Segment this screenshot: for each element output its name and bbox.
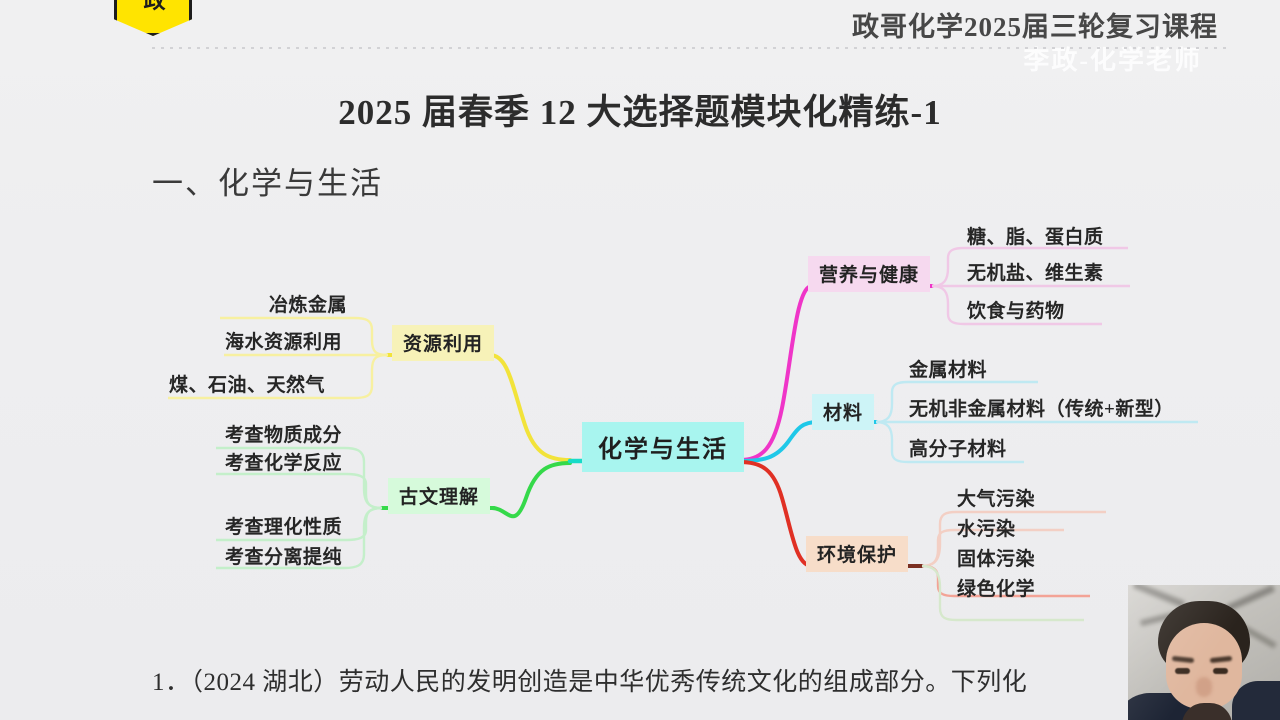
connector-classical-spine xyxy=(492,463,570,516)
mindmap-node-classical-text[interactable]: 古文理解 xyxy=(388,478,490,514)
mindmap-leaf-materials-2[interactable]: 无机非金属材料（传统+新型） xyxy=(902,392,1181,425)
mindmap-leaf-resource-3[interactable]: 煤、石油、天然气 xyxy=(162,368,332,401)
connector-environment-spine xyxy=(740,462,812,566)
mindmap-leaf-resource-1[interactable]: 冶炼金属 xyxy=(262,288,354,321)
mindmap-leaf-materials-1[interactable]: 金属材料 xyxy=(902,353,994,386)
mindmap-leaf-classical-2[interactable]: 考查化学反应 xyxy=(218,446,349,479)
mindmap-leaf-resource-2[interactable]: 海水资源利用 xyxy=(218,325,349,358)
watermark-text: 李政-化学老师 xyxy=(1023,40,1202,77)
connector-resource-spine xyxy=(490,355,570,460)
section-heading: 一、化学与生活 xyxy=(152,158,383,203)
mindmap-node-nutrition-health[interactable]: 营养与健康 xyxy=(808,256,930,292)
mindmap-leaf-environment-3[interactable]: 固体污染 xyxy=(950,542,1042,575)
mindmap-leaf-nutrition-2[interactable]: 无机盐、维生素 xyxy=(960,256,1111,289)
mindmap-diagram: 化学与生活 资源利用 冶炼金属 海水资源利用 煤、石油、天然气 古文理解 考查物… xyxy=(140,210,1220,640)
logo-mark-text: 政 xyxy=(131,0,177,19)
mindmap-leaf-materials-3[interactable]: 高分子材料 xyxy=(902,432,1014,465)
mindmap-center-node[interactable]: 化学与生活 xyxy=(582,422,744,472)
mindmap-leaf-nutrition-3[interactable]: 饮食与药物 xyxy=(960,294,1072,327)
hexagon-logo-icon: 政 xyxy=(114,0,192,36)
mindmap-node-environmental-protection[interactable]: 环境保护 xyxy=(806,536,908,572)
slide-canvas: 政 —FOMEZ— 政哥化学2025届三轮复习课程 李政-化学老师 2025 届… xyxy=(0,0,1280,720)
mindmap-node-resource-utilization[interactable]: 资源利用 xyxy=(392,325,494,361)
mindmap-leaf-environment-1[interactable]: 大气污染 xyxy=(950,482,1042,515)
header-divider xyxy=(152,47,1230,49)
connector-nutrition-spine xyxy=(740,286,812,460)
page-title: 2025 届春季 12 大选择题模块化精练-1 xyxy=(0,84,1280,135)
brand-logo: 政 —FOMEZ— xyxy=(108,0,200,30)
camera-glare xyxy=(1128,585,1280,720)
mindmap-leaf-environment-2[interactable]: 水污染 xyxy=(950,512,1023,545)
connector-classical-child-2 xyxy=(216,474,382,508)
mindmap-leaf-classical-3[interactable]: 考查理化性质 xyxy=(218,510,349,543)
mindmap-leaf-classical-4[interactable]: 考查分离提纯 xyxy=(218,540,349,573)
mindmap-node-materials[interactable]: 材料 xyxy=(812,394,874,430)
mindmap-leaf-environment-4[interactable]: 绿色化学 xyxy=(950,572,1042,605)
presenter-camera-overlay[interactable] xyxy=(1128,585,1280,720)
mindmap-leaf-nutrition-1[interactable]: 糖、脂、蛋白质 xyxy=(960,220,1111,253)
question-text-1: 1．（2024 湖北）劳动人民的发明创造是中华优秀传统文化的组成部分。下列化 xyxy=(152,662,1027,698)
course-title: 政哥化学2025届三轮复习课程 xyxy=(852,5,1218,44)
